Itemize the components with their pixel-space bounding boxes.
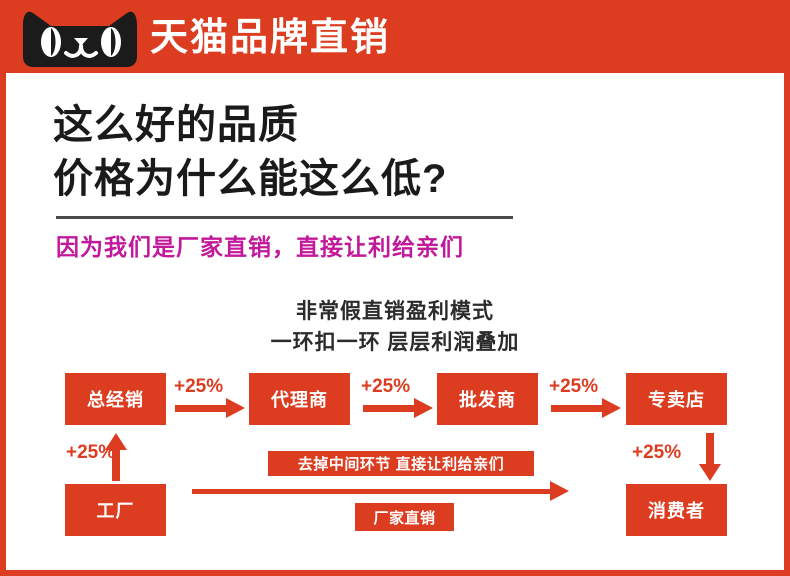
top-banner: 天猫品牌直销 bbox=[0, 0, 790, 78]
promo-banner-page: 天猫品牌直销 这么好的品质 价格为什么能这么低? 因为我们是厂家直销，直接让利给… bbox=[0, 0, 790, 576]
diagram-caption: 非常假直销盈利模式 一环扣一环 层层利润叠加 bbox=[0, 296, 790, 358]
headline-subtitle: 因为我们是厂家直销，直接让利给亲们 bbox=[56, 228, 464, 262]
tmall-cat-logo-icon bbox=[21, 9, 139, 69]
diagram-caption-line-2: 一环扣一环 层层利润叠加 bbox=[0, 327, 790, 358]
diagram-caption-line-1: 非常假直销盈利模式 bbox=[0, 296, 790, 327]
headline-line-2: 价格为什么能这么低? bbox=[53, 154, 447, 204]
headline-divider bbox=[56, 216, 513, 219]
banner-title: 天猫品牌直销 bbox=[150, 14, 390, 62]
headline-line-1: 这么好的品质 bbox=[53, 100, 299, 150]
